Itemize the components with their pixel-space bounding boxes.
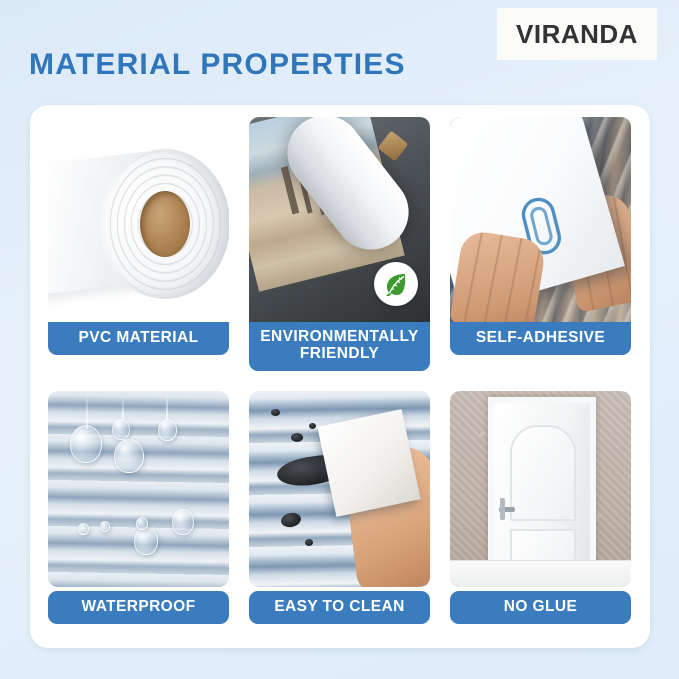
stain-spot xyxy=(280,511,302,529)
feature-card-waterproof[interactable]: WATERPROOF xyxy=(48,391,229,624)
water-droplet xyxy=(172,509,194,535)
feature-card-easy-to-clean[interactable]: EASY TO CLEAN xyxy=(249,391,430,624)
roll-end-shape xyxy=(378,131,409,162)
feature-label-self-adhesive: SELF-ADHESIVE xyxy=(450,322,631,355)
easy-to-clean-image xyxy=(249,391,430,587)
stain-spot xyxy=(271,409,280,416)
page-title: MATERIAL PROPERTIES xyxy=(29,48,406,82)
brand-name: VIRANDA xyxy=(516,19,638,50)
feature-label-no-glue: NO GLUE xyxy=(450,591,631,624)
door-frame xyxy=(488,397,596,575)
feature-label-easy-to-clean: EASY TO CLEAN xyxy=(249,591,430,624)
drop-trail xyxy=(122,397,124,421)
finger-detail xyxy=(450,229,547,322)
feature-card-pvc-material[interactable]: PVC MATERIAL xyxy=(48,117,229,371)
water-droplet xyxy=(100,521,110,532)
waterproof-image xyxy=(48,391,229,587)
door-slab xyxy=(494,403,590,575)
feature-card-self-adhesive[interactable]: SELF-ADHESIVE xyxy=(450,117,631,371)
feature-card-no-glue[interactable]: NO GLUE xyxy=(450,391,631,624)
feature-label-waterproof: WATERPROOF xyxy=(48,591,229,624)
stain-spot xyxy=(309,423,316,429)
brand-logo: VIRANDA xyxy=(497,8,657,60)
baseboard xyxy=(450,560,631,587)
feature-label-pvc-material: PVC MATERIAL xyxy=(48,322,229,355)
door-panel-upper xyxy=(510,425,576,521)
feature-label-environmentally-friendly: ENVIRONMENTALLY FRIENDLY xyxy=(249,322,430,371)
stain-spot xyxy=(305,539,313,546)
features-grid: PVC MATERIAL ENVIRONMENTAL xyxy=(48,117,632,624)
stain-spot xyxy=(291,433,303,442)
features-panel: PVC MATERIAL ENVIRONMENTAL xyxy=(30,105,650,648)
drop-trail xyxy=(86,391,88,429)
hand-left-shape xyxy=(450,229,547,322)
material-properties-infographic: VIRANDA MATERIAL PROPERTIES PVC MATERIAL xyxy=(0,0,679,679)
water-droplet xyxy=(114,439,144,473)
cleaning-cloth xyxy=(317,409,420,517)
leaf-icon xyxy=(374,262,418,306)
self-adhesive-image xyxy=(450,117,631,322)
water-droplet xyxy=(70,425,102,463)
water-droplet xyxy=(158,419,177,441)
pvc-roll-image xyxy=(48,117,229,322)
no-glue-image xyxy=(450,391,631,587)
door-handle-icon xyxy=(499,507,515,512)
pvc-roll-core xyxy=(140,191,190,257)
water-droplet xyxy=(136,517,148,530)
drop-trail xyxy=(166,391,168,421)
water-droplet xyxy=(112,419,130,440)
water-droplet xyxy=(134,527,158,555)
feature-card-environmentally-friendly[interactable]: ENVIRONMENTALLY FRIENDLY xyxy=(249,117,430,371)
water-droplet xyxy=(78,523,89,535)
eco-wallpaper-image xyxy=(249,117,430,322)
